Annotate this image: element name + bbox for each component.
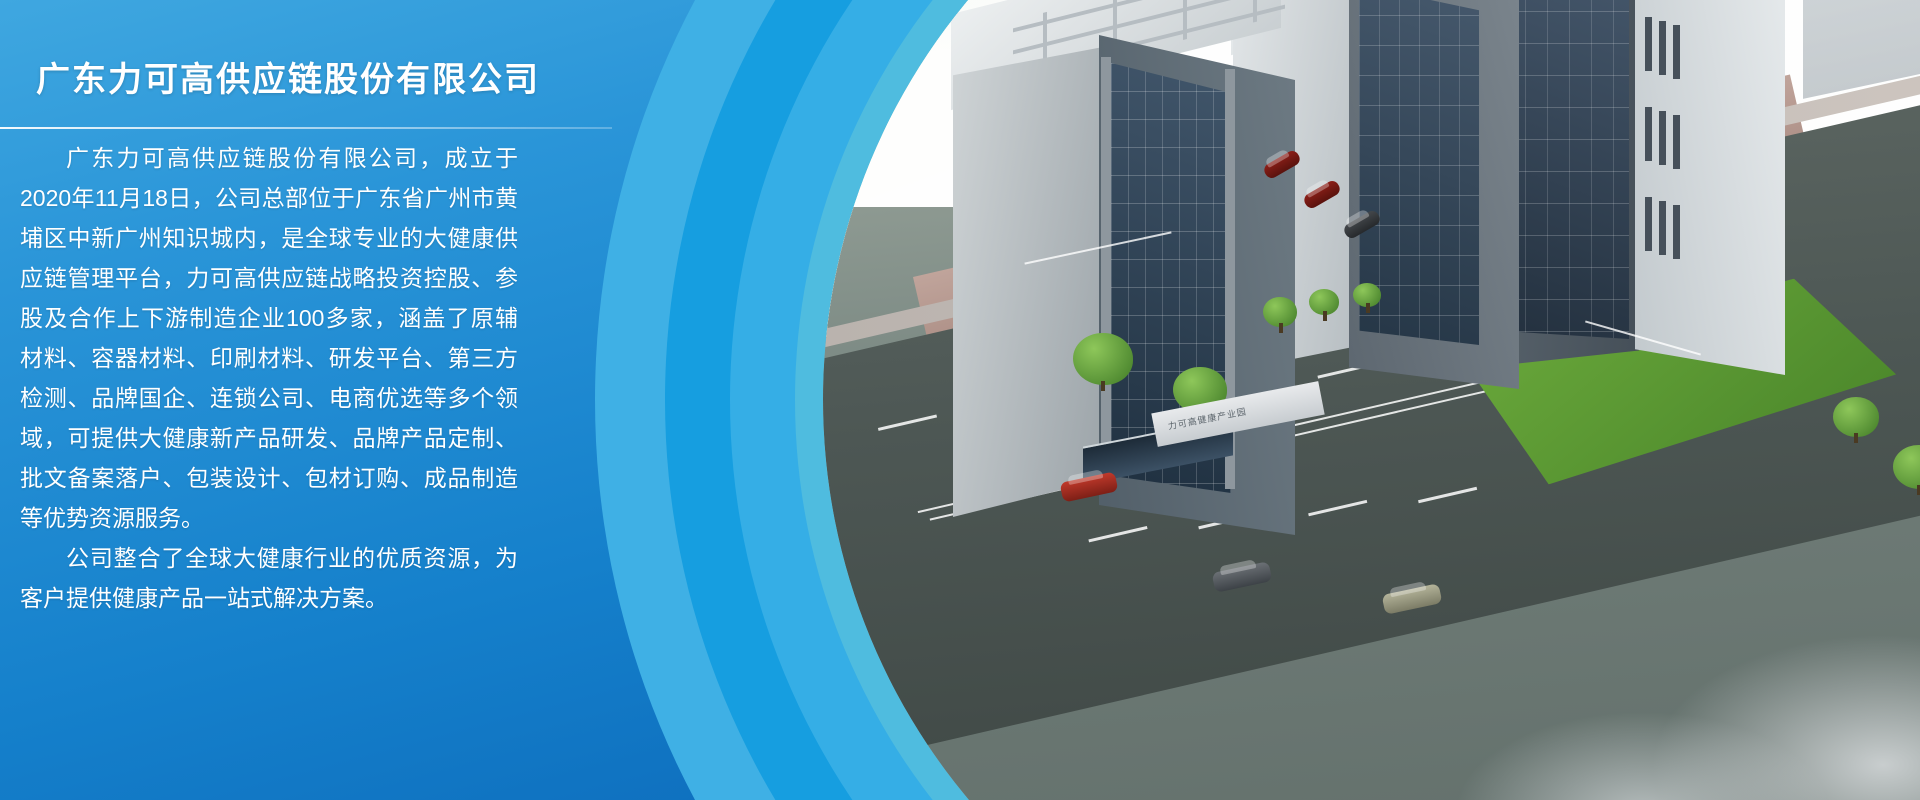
- title-divider: [0, 127, 612, 129]
- about-paragraph-1: 广东力可高供应链股份有限公司，成立于2020年11月18日，公司总部位于广东省广…: [20, 138, 518, 538]
- text-panel: 广东力可高供应链股份有限公司 广东力可高供应链股份有限公司，成立于2020年11…: [0, 0, 620, 800]
- tree: [1833, 397, 1879, 437]
- facility-photo: 力可高健康产业园: [823, 0, 1920, 800]
- site-signage-text: 力可高健康产业园: [1167, 404, 1248, 432]
- tree: [1073, 333, 1133, 385]
- building-front-tower: [973, 0, 1273, 537]
- tree: [1309, 289, 1339, 315]
- ground-mist: [1383, 677, 1903, 800]
- about-text: 广东力可高供应链股份有限公司，成立于2020年11月18日，公司总部位于广东省广…: [20, 138, 518, 618]
- facility-photo-clip: 力可高健康产业园: [823, 0, 1920, 800]
- tree: [1263, 297, 1297, 327]
- about-paragraph-2: 公司整合了全球大健康行业的优质资源，为客户提供健康产品一站式解决方案。: [20, 538, 518, 618]
- tree: [1353, 283, 1381, 307]
- company-title: 广东力可高供应链股份有限公司: [36, 52, 540, 101]
- banner-root: 力可高健康产业园 广东力可高供应链股份有限公司 广东力可高供应链股份有限公司，成…: [0, 0, 1920, 800]
